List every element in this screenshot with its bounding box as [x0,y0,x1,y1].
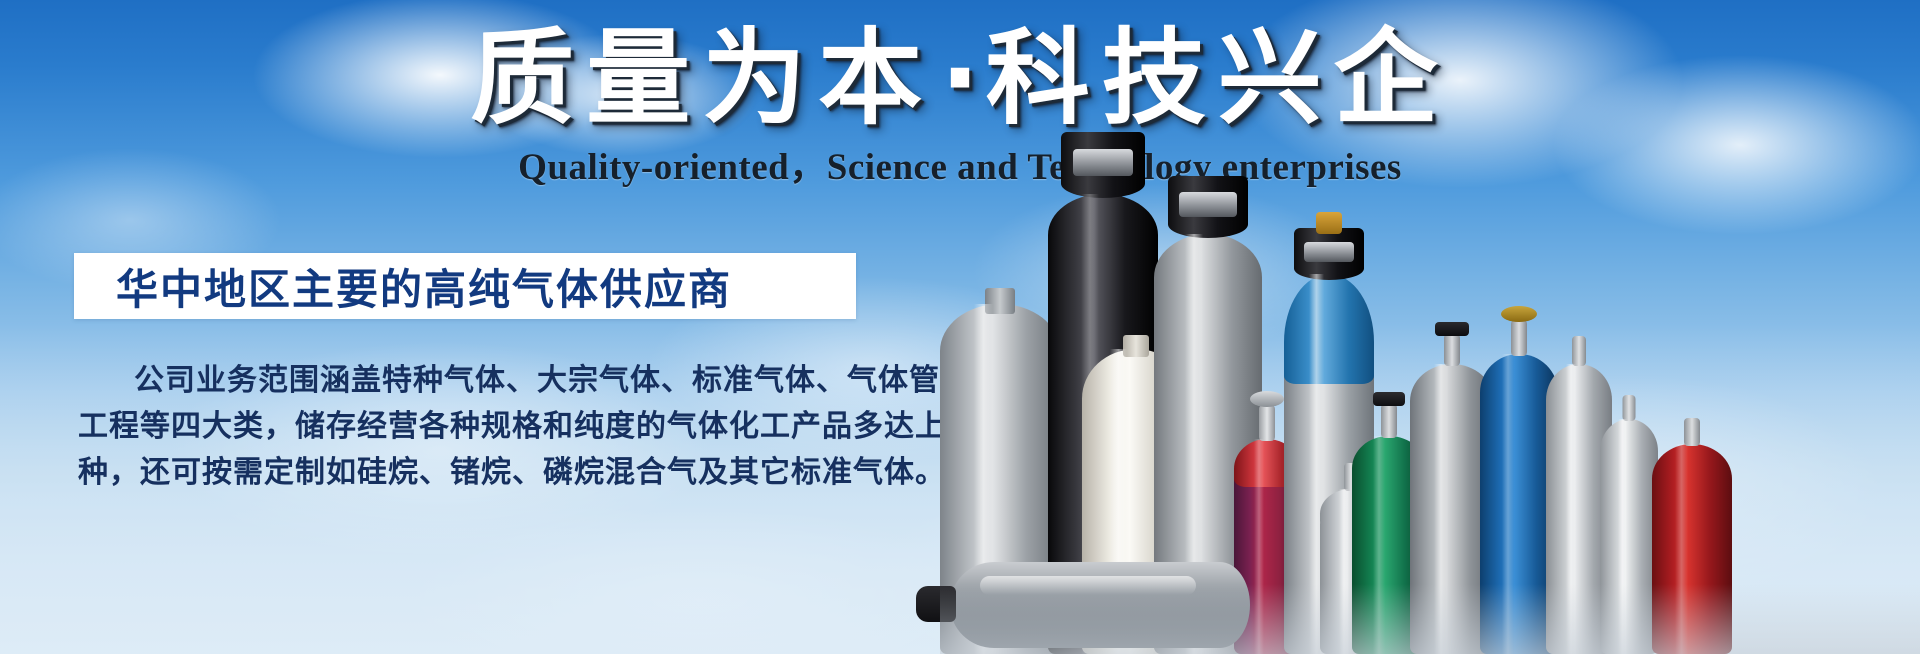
callout-text: 华中地区主要的高纯气体供应商 [74,256,732,317]
promotional-banner: 质量为本·科技兴企 Quality-oriented，Science and T… [0,0,1920,654]
description-line-3: 种，还可按需定制如硅烷、锗烷、磷烷混合气及其它标准气体。 [78,450,868,496]
headline-part-1: 质量为本 [470,17,934,139]
description-line-2: 工程等四大类，储存经营各种规格和纯度的气体化工产品多达上百 [78,404,868,450]
ground-shadow [940,584,1920,654]
gas-cylinder-group-image [940,0,1920,654]
callout-box: 华中地区主要的高纯气体供应商 [74,253,856,319]
banner-description: 公司业务范围涵盖特种气体、大宗气体、标准气体、气体管道 工程等四大类，储存经营各… [78,358,868,496]
description-line-1: 公司业务范围涵盖特种气体、大宗气体、标准气体、气体管道 [78,358,868,404]
